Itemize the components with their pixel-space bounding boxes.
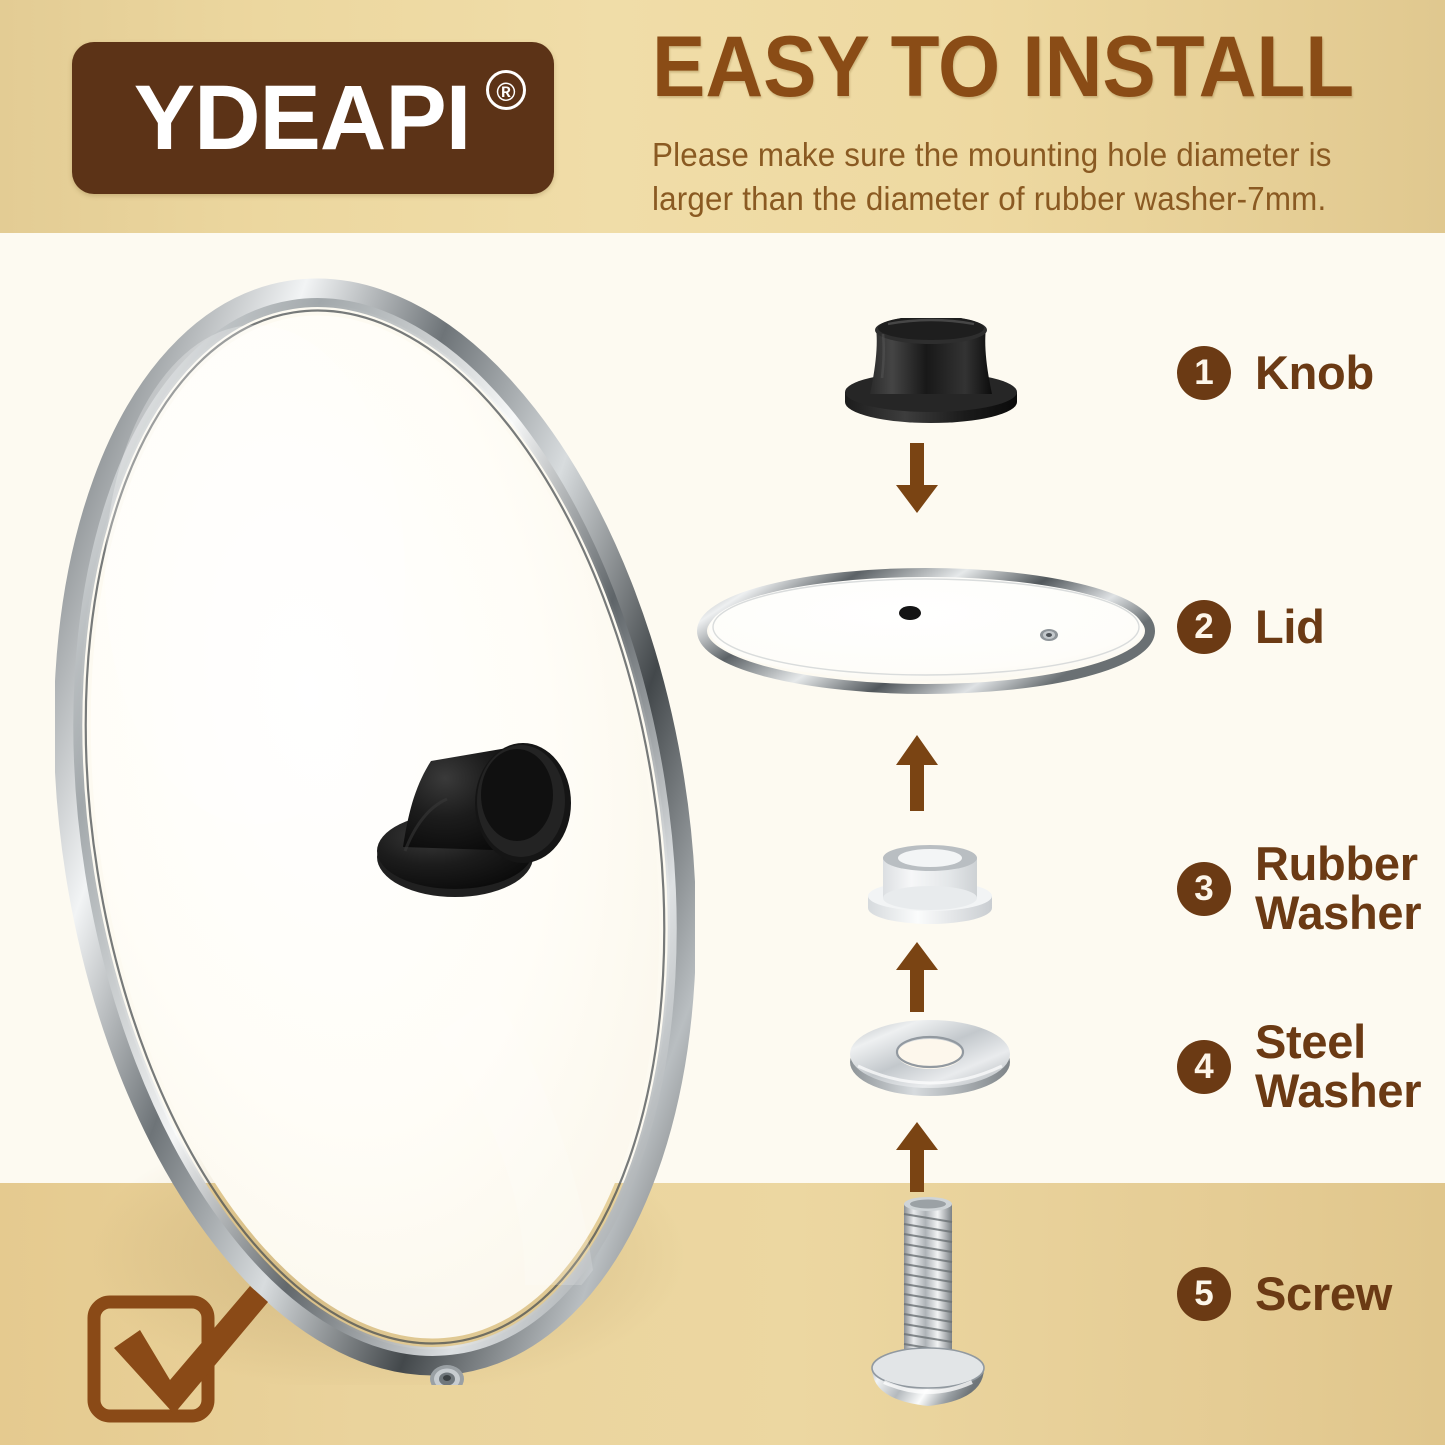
headline-subtext-line1: Please make sure the mounting hole diame…: [652, 136, 1332, 174]
headline-title: EASY TO INSTALL: [652, 24, 1340, 110]
legend-number-badge: 2: [1177, 600, 1231, 654]
header-band: YDEAPI ® EASY TO INSTALL Please make sur…: [0, 0, 1445, 233]
legend-item-knob: 1 Knob: [1177, 346, 1374, 400]
legend-item-steel-washer: 4 Steel Washer: [1177, 1018, 1421, 1116]
lid-center-hole: [899, 606, 921, 620]
legend-label: Knob: [1255, 349, 1374, 398]
arrow-down-knob-to-lid: [893, 443, 941, 515]
arrow-up-rubber-to-lid: [893, 733, 941, 813]
legend-label: Rubber Washer: [1255, 840, 1421, 938]
part-lid: [696, 565, 1156, 695]
steel-washer-bore: [897, 1039, 963, 1069]
legend-item-rubber-washer: 3 Rubber Washer: [1177, 840, 1421, 938]
lid-vent-hole: [1040, 629, 1058, 641]
checkbox-check-icon: [84, 1280, 284, 1430]
rubber-washer-bore: [898, 849, 962, 867]
legend-label: Screw: [1255, 1270, 1392, 1319]
part-screw: [866, 1192, 990, 1414]
legend-label: Steel Washer: [1255, 1018, 1421, 1116]
headline-subtext-line2: larger than the diameter of rubber washe…: [652, 180, 1326, 218]
legend-number-badge: 1: [1177, 346, 1231, 400]
legend-item-screw: 5 Screw: [1177, 1267, 1392, 1321]
registered-trademark-icon: ®: [486, 70, 526, 110]
arrow-up-screw-to-steel: [893, 1120, 941, 1194]
infographic-page: YDEAPI ® EASY TO INSTALL Please make sur…: [0, 0, 1445, 1445]
brand-logo: YDEAPI ®: [72, 42, 554, 194]
product-photo-lid: [55, 275, 695, 1385]
legend-item-lid: 2 Lid: [1177, 600, 1325, 654]
part-knob: [826, 318, 1036, 428]
part-rubber-washer: [855, 838, 1005, 928]
lid-face-ellipse: [709, 577, 1143, 681]
part-steel-washer: [848, 1008, 1012, 1100]
legend-number-badge: 5: [1177, 1267, 1231, 1321]
arrow-up-steel-to-rubber: [893, 940, 941, 1014]
legend-number-badge: 3: [1177, 862, 1231, 916]
legend-label: Lid: [1255, 603, 1325, 652]
legend-number-badge: 4: [1177, 1040, 1231, 1094]
brand-logo-text: YDEAPI: [72, 42, 554, 194]
